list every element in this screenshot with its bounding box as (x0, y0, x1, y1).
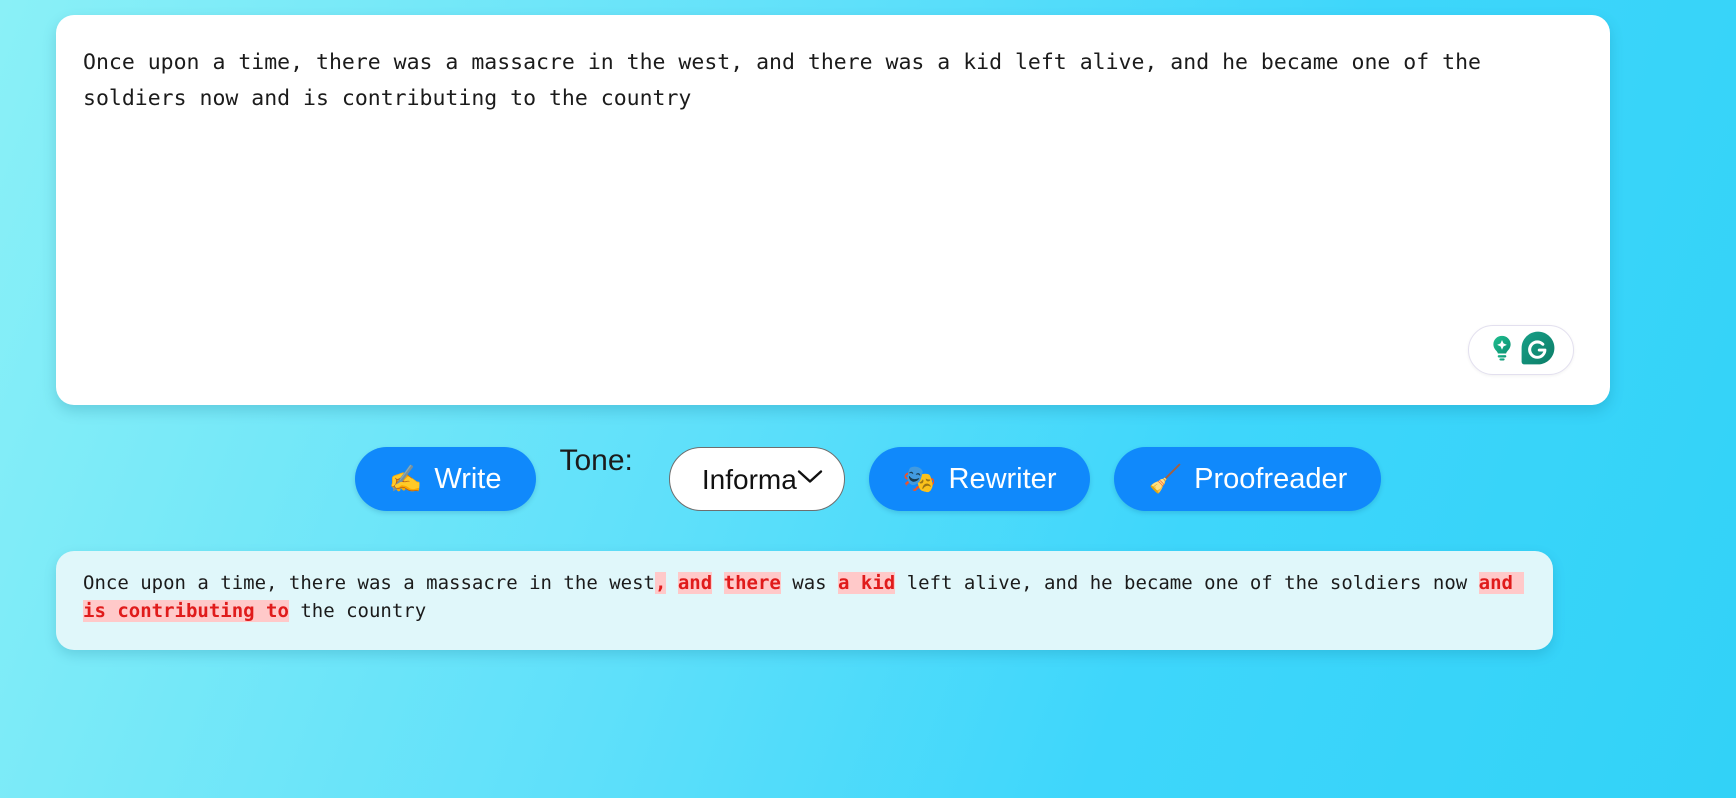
result-highlight: and (678, 572, 712, 594)
write-button[interactable]: ✍️ Write (355, 447, 536, 511)
write-button-label: Write (434, 463, 501, 496)
result-plain: the country (289, 600, 426, 622)
grammarly-logo-icon[interactable] (1521, 331, 1555, 370)
tone-label: Tone: (560, 444, 633, 478)
proofreader-button[interactable]: 🧹 Proofreader (1114, 447, 1381, 511)
rewriter-button[interactable]: 🎭 Rewriter (869, 447, 1091, 511)
tone-select-wrapper[interactable]: Informal (669, 447, 845, 511)
result-highlight: a kid (838, 572, 895, 594)
controls-toolbar: ✍️ Write Tone: Informal 🎭 Rewriter 🧹 Pro… (0, 443, 1736, 515)
rewriter-button-label: Rewriter (949, 463, 1057, 496)
lightbulb-icon[interactable] (1487, 333, 1517, 368)
performing-arts-icon: 🎭 (903, 466, 937, 493)
result-plain (712, 572, 723, 594)
result-plain (666, 572, 677, 594)
result-highlight: there (724, 572, 781, 594)
proofreader-button-label: Proofreader (1194, 463, 1347, 496)
tone-select[interactable]: Informal (669, 447, 845, 511)
writing-hand-icon: ✍️ (389, 466, 423, 493)
result-card: Once upon a time, there was a massacre i… (56, 551, 1553, 650)
grammarly-widget[interactable] (1468, 325, 1574, 375)
result-highlight: , (655, 572, 666, 594)
result-plain: was (781, 572, 838, 594)
broom-icon: 🧹 (1148, 466, 1182, 493)
editor-textarea[interactable]: Once upon a time, there was a massacre i… (83, 45, 1586, 117)
result-plain: Once upon a time, there was a massacre i… (83, 572, 655, 594)
editor-card[interactable]: Once upon a time, there was a massacre i… (56, 15, 1610, 405)
result-plain: left alive, and he became one of the sol… (895, 572, 1478, 594)
result-text: Once upon a time, there was a massacre i… (83, 569, 1533, 625)
